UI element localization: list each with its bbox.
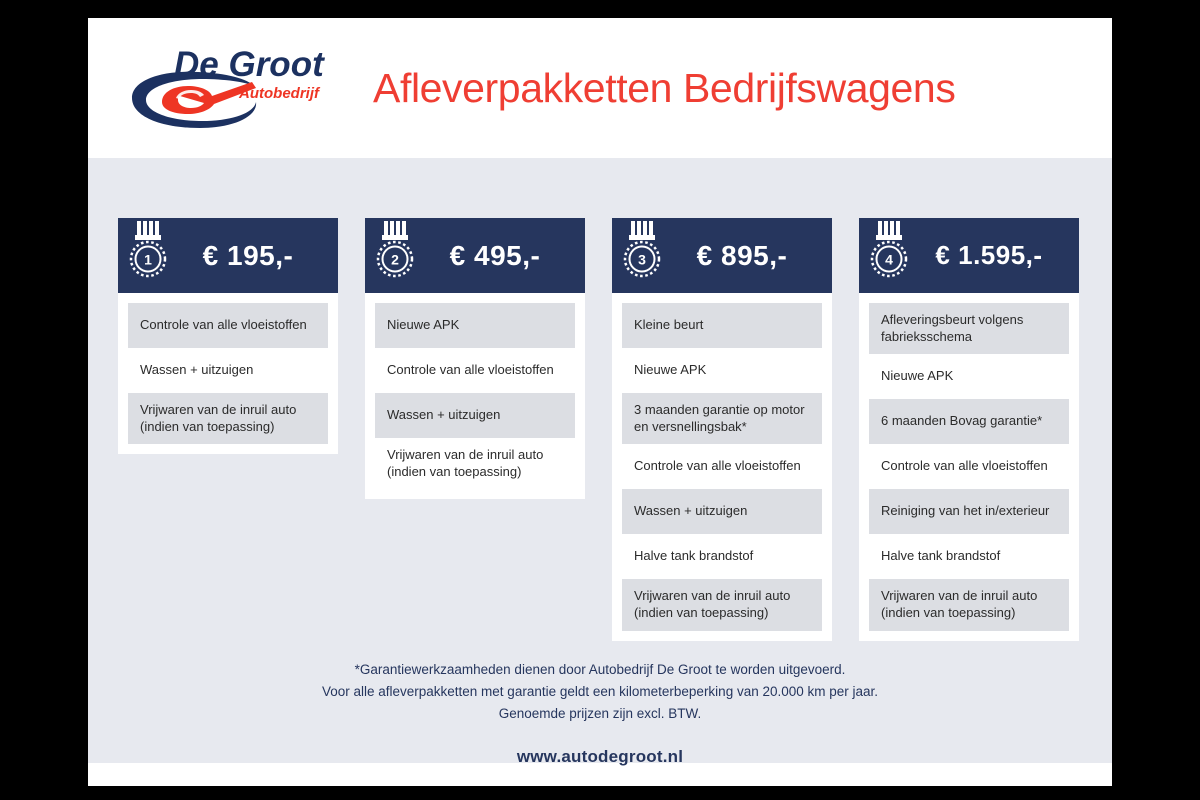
package-card-header: 2 € 495,- xyxy=(365,218,585,293)
footer-line-3: Genoemde prijzen zijn excl. BTW. xyxy=(88,703,1112,725)
feature-item: Vrijwaren van de inruil auto (indien van… xyxy=(375,438,575,489)
feature-item: Halve tank brandstof xyxy=(622,534,822,579)
package-price: € 495,- xyxy=(419,240,575,272)
package-card[interactable]: 2 € 495,- Nieuwe APK Controle van alle v… xyxy=(365,218,585,499)
feature-item: Nieuwe APK xyxy=(375,303,575,348)
feature-item: Wassen + uitzuigen xyxy=(128,348,328,393)
feature-item: Controle van alle vloeistoffen xyxy=(375,348,575,393)
feature-item: Halve tank brandstof xyxy=(869,534,1069,579)
feature-item: Nieuwe APK xyxy=(622,348,822,393)
package-price: € 1.595,- xyxy=(913,240,1069,271)
package-feature-list: Controle van alle vloeistoffen Wassen + … xyxy=(118,293,338,454)
footer-line-1: *Garantiewerkzaamheden dienen door Autob… xyxy=(88,659,1112,681)
medal-icon: 3 xyxy=(620,221,666,283)
logo-name-text: De Groot xyxy=(174,45,325,84)
page-header: De Groot Autobedrijf Afleverpakketten Be… xyxy=(88,18,1112,158)
poster-page: De Groot Autobedrijf Afleverpakketten Be… xyxy=(88,18,1112,786)
medal-icon: 1 xyxy=(126,221,172,283)
package-card-header: 1 € 195,- xyxy=(118,218,338,293)
website-link[interactable]: www.autodegroot.nl xyxy=(88,747,1112,767)
page-title: Afleverpakketten Bedrijfswagens xyxy=(373,68,955,109)
medal-number: 2 xyxy=(391,251,399,267)
feature-item: Reiniging van het in/exterieur xyxy=(869,489,1069,534)
package-feature-list: Nieuwe APK Controle van alle vloeistoffe… xyxy=(365,293,585,499)
feature-item: Wassen + uitzuigen xyxy=(622,489,822,534)
medal-number: 4 xyxy=(885,251,893,267)
medal-number: 1 xyxy=(144,251,152,267)
package-card[interactable]: 1 € 195,- Controle van alle vloeistoffen… xyxy=(118,218,338,454)
feature-item: Nieuwe APK xyxy=(869,354,1069,399)
package-card-header: 3 € 895,- xyxy=(612,218,832,293)
package-card-header: 4 € 1.595,- xyxy=(859,218,1079,293)
feature-item: Vrijwaren van de inruil auto (indien van… xyxy=(128,393,328,444)
medal-number: 3 xyxy=(638,251,646,267)
feature-item: Wassen + uitzuigen xyxy=(375,393,575,438)
feature-item: Kleine beurt xyxy=(622,303,822,348)
feature-item: Afleveringsbeurt volgens fabrieksschema xyxy=(869,303,1069,354)
main-content: 1 € 195,- Controle van alle vloeistoffen… xyxy=(88,158,1112,763)
feature-item: 3 maanden garantie op motor en versnelli… xyxy=(622,393,822,444)
feature-item: Vrijwaren van de inruil auto (indien van… xyxy=(869,579,1069,630)
feature-item: Controle van alle vloeistoffen xyxy=(128,303,328,348)
logo-subtitle-text: Autobedrijf xyxy=(238,85,321,102)
page-footer: *Garantiewerkzaamheden dienen door Autob… xyxy=(88,641,1112,768)
feature-item: Controle van alle vloeistoffen xyxy=(869,444,1069,489)
package-card[interactable]: 4 € 1.595,- Afleveringsbeurt volgens fab… xyxy=(859,218,1079,641)
logo-graphic: De Groot Autobedrijf xyxy=(114,42,329,134)
feature-item: Controle van alle vloeistoffen xyxy=(622,444,822,489)
footer-line-2: Voor alle afleverpakketten met garantie … xyxy=(88,681,1112,703)
package-cards: 1 € 195,- Controle van alle vloeistoffen… xyxy=(88,158,1112,641)
feature-item: Vrijwaren van de inruil auto (indien van… xyxy=(622,579,822,630)
package-feature-list: Kleine beurt Nieuwe APK 3 maanden garant… xyxy=(612,293,832,641)
medal-icon: 4 xyxy=(867,221,913,283)
de-groot-logo: De Groot Autobedrijf xyxy=(114,42,329,134)
package-feature-list: Afleveringsbeurt volgens fabrieksschema … xyxy=(859,293,1079,641)
feature-item: 6 maanden Bovag garantie* xyxy=(869,399,1069,444)
package-price: € 195,- xyxy=(172,240,328,272)
medal-icon: 2 xyxy=(373,221,419,283)
package-card[interactable]: 3 € 895,- Kleine beurt Nieuwe APK 3 maan… xyxy=(612,218,832,641)
package-price: € 895,- xyxy=(666,240,822,272)
